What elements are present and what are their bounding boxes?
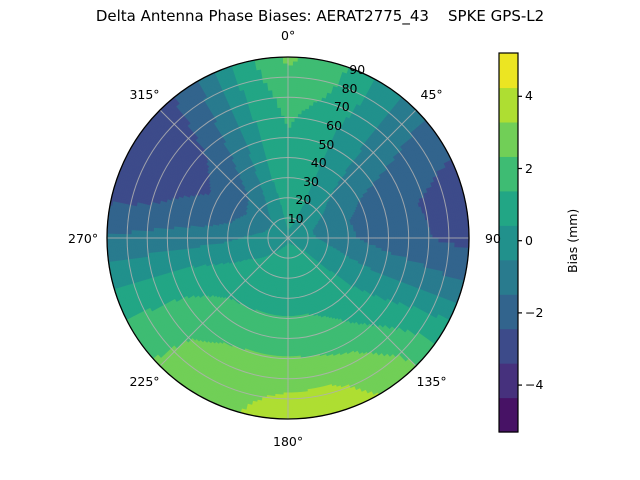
radial-tick-label-50: 50: [318, 137, 334, 152]
figure-canvas: Delta Antenna Phase Biases: AERAT2775_43…: [0, 0, 640, 480]
colorbar-band: [499, 156, 518, 191]
colorbar-tick-label: 4: [525, 88, 533, 103]
angular-tick-label-45: 45°: [421, 87, 443, 102]
radial-tick-label-70: 70: [334, 99, 350, 114]
colorbar-band: [499, 363, 518, 398]
radial-tick-label-30: 30: [303, 174, 319, 189]
colorbar-band: [499, 87, 518, 122]
colorbar-band: [499, 329, 518, 364]
angular-tick-label-270: 270°: [68, 231, 98, 246]
radial-tick-label-80: 80: [342, 81, 358, 96]
angular-tick-label-0: 0°: [281, 28, 295, 43]
colorbar-band: [499, 122, 518, 157]
colorbar-tick-label: 0: [525, 233, 533, 248]
angular-tick-label-180: 180°: [273, 434, 303, 449]
radial-tick-label-90: 90: [349, 62, 365, 77]
radial-tick-label-10: 10: [288, 211, 304, 226]
angular-tick-label-315: 315°: [129, 87, 159, 102]
colorbar-tick-label: 2: [525, 161, 533, 176]
colorbar-axis-label: Bias (mm): [565, 209, 580, 273]
colorbar-band: [499, 398, 518, 433]
angular-tick-label-90: 90: [485, 231, 501, 246]
angular-tick-label-135: 135°: [417, 374, 447, 389]
colorbar-tick-label: −4: [525, 377, 543, 392]
page-title: Delta Antenna Phase Biases: AERAT2775_43…: [0, 7, 640, 25]
colorbar-tick-label: −2: [525, 305, 543, 320]
polar-grid: [107, 57, 469, 419]
colorbar-band: [499, 294, 518, 329]
colorbar-band: [499, 225, 518, 260]
colorbar: [499, 53, 522, 433]
colorbar-band: [499, 53, 518, 88]
colorbar-band: [499, 260, 518, 295]
radial-tick-label-40: 40: [311, 155, 327, 170]
colorbar-band: [499, 191, 518, 226]
radial-tick-label-20: 20: [295, 192, 311, 207]
radial-tick-label-60: 60: [326, 118, 342, 133]
angular-tick-label-225: 225°: [129, 374, 159, 389]
